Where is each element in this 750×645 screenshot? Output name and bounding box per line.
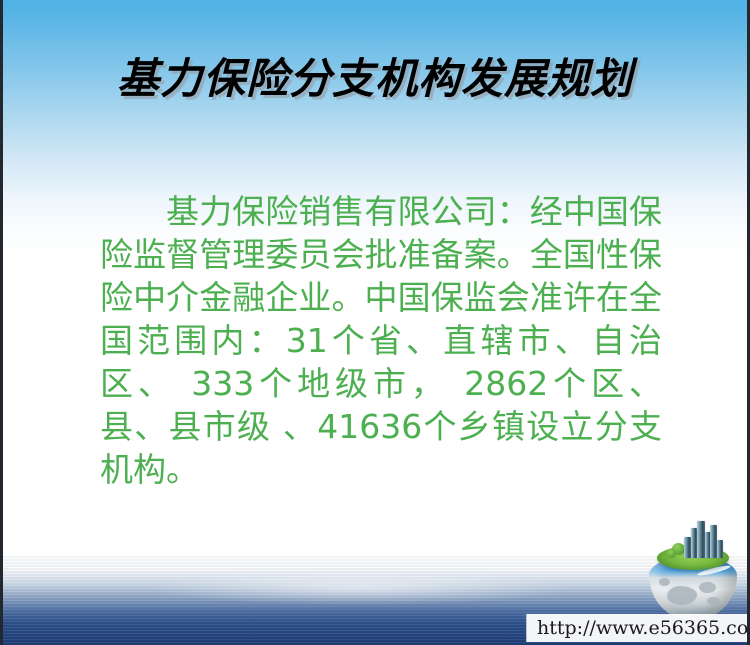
- building-icon: [697, 521, 705, 558]
- continent-shape-icon: [659, 578, 670, 586]
- watermark-url: http://www.e56365.com: [526, 614, 747, 642]
- globe-city-illustration: [645, 516, 741, 620]
- slide-body-paragraph: 基力保险销售有限公司：经中国保险监督管理委员会批准备案。全国性保险中介金融企业。…: [100, 190, 662, 491]
- skyscrapers-icon: [683, 520, 727, 558]
- building-icon: [684, 537, 691, 558]
- tree-icon: [667, 549, 676, 558]
- continent-shape-icon: [667, 586, 697, 605]
- presentation-slide: 基力保险分支机构发展规划 基力保险销售有限公司：经中国保险监督管理委员会批准备案…: [0, 0, 750, 645]
- building-icon: [717, 540, 723, 558]
- building-icon: [710, 525, 717, 558]
- slide-title: 基力保险分支机构发展规划: [0, 57, 750, 101]
- continent-shape-icon: [699, 582, 716, 593]
- continent-shape-icon: [707, 597, 720, 605]
